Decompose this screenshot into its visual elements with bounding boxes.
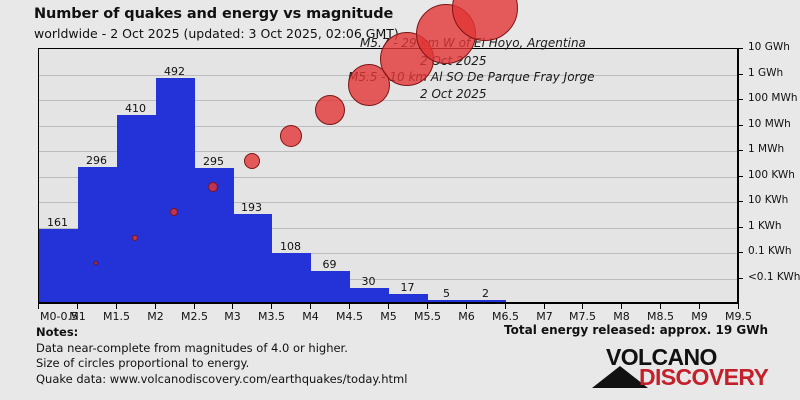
x-axis-tick xyxy=(582,304,583,309)
bar-M3[interactable] xyxy=(233,214,272,302)
bar-value-label: 161 xyxy=(38,216,77,229)
bar-value-label: 69 xyxy=(310,258,349,271)
y-axis-right-tick xyxy=(738,48,743,49)
notes-block: Notes: Data near-complete from magnitude… xyxy=(36,325,407,387)
annotation-fray-jorge-date: 2 Oct 2025 xyxy=(420,87,487,101)
bar-M1.5[interactable] xyxy=(117,115,156,302)
y-axis-title: Number of events xyxy=(0,38,3,128)
bar-M6[interactable] xyxy=(467,300,506,302)
x-axis-tick xyxy=(77,304,78,309)
bar-M5.5[interactable] xyxy=(428,300,467,302)
energy-bubble-M2.5[interactable] xyxy=(208,182,218,192)
x-axis-tick-label: M1 xyxy=(58,310,97,323)
x-axis-tick xyxy=(38,304,39,309)
bar-value-label: 193 xyxy=(232,201,271,214)
y-axis-right-tick-label: 100 KWh xyxy=(748,169,795,181)
bar-M4[interactable] xyxy=(311,271,350,302)
x-axis-tick xyxy=(194,304,195,309)
energy-bubble-M4[interactable] xyxy=(315,95,345,125)
x-axis-tick-label: M3 xyxy=(213,310,252,323)
y-axis-right-tick-label: 1 KWh xyxy=(748,220,782,232)
logo-word-discovery: DISCOVERY xyxy=(639,364,768,391)
energy-bubble-M3.5[interactable] xyxy=(280,125,302,147)
energy-bubble-M1.5[interactable] xyxy=(132,235,138,241)
x-axis-tick xyxy=(699,304,700,309)
total-energy-text: Total energy released: approx. 19 GWh xyxy=(504,323,768,337)
y-axis-right-tick xyxy=(738,99,743,100)
x-axis-tick xyxy=(621,304,622,309)
bar-value-label: 295 xyxy=(194,155,233,168)
y-axis-right-tick-label: 100 MWh xyxy=(748,92,797,104)
y-axis-right-tick-label: 0.1 KWh xyxy=(748,245,792,257)
note-line-1: Data near-complete from magnitudes of 4.… xyxy=(36,341,407,357)
x-axis-tick-label: M7.5 xyxy=(563,310,602,323)
bar-value-label: 410 xyxy=(116,102,155,115)
x-axis-tick-label: M2 xyxy=(136,310,175,323)
x-axis-tick-label: M4.5 xyxy=(330,310,369,323)
x-axis-tick-label: M5 xyxy=(369,310,408,323)
bar-value-label: 108 xyxy=(271,240,310,253)
x-axis-tick xyxy=(271,304,272,309)
energy-bubble-M3[interactable] xyxy=(244,153,260,169)
y-axis-right-tick xyxy=(738,201,743,202)
y-axis-right-tick-label: 1 MWh xyxy=(748,143,784,155)
x-axis-tick xyxy=(427,304,428,309)
bar-value-label: 30 xyxy=(349,275,388,288)
x-axis-tick xyxy=(466,304,467,309)
y-axis-right-tick-label: 10 KWh xyxy=(748,194,788,206)
gridline xyxy=(39,100,737,101)
notes-heading: Notes: xyxy=(36,325,407,341)
bar-M3.5[interactable] xyxy=(272,253,311,302)
x-axis-tick xyxy=(660,304,661,309)
x-axis-tick-label: M6.5 xyxy=(486,310,525,323)
y-axis-right-tick-label: 1 GWh xyxy=(748,67,783,79)
chart-subtitle: worldwide - 2 Oct 2025 (updated: 3 Oct 2… xyxy=(34,26,399,41)
bar-M00.5[interactable] xyxy=(39,229,78,302)
y-axis-right-tick xyxy=(738,125,743,126)
x-axis-tick-label: M2.5 xyxy=(175,310,214,323)
x-axis-tick-label: M7 xyxy=(525,310,564,323)
x-axis-tick-label: M8.5 xyxy=(641,310,680,323)
page-title: Number of quakes and energy vs magnitude xyxy=(34,6,393,22)
y-axis-right-tick xyxy=(738,227,743,228)
note-line-2: Size of circles proportional to energy. xyxy=(36,356,407,372)
note-line-3: Quake data: www.volcanodiscovery.com/ear… xyxy=(36,372,407,388)
quake-energy-chart: Number of quakes and energy vs magnitude… xyxy=(0,0,800,400)
x-axis-tick-label: M5.5 xyxy=(408,310,447,323)
x-axis-tick-label: M9.5 xyxy=(719,310,758,323)
x-axis-tick xyxy=(738,304,739,309)
y-axis-right-tick-label: 10 GWh xyxy=(748,41,790,53)
x-axis-tick xyxy=(349,304,350,309)
y-axis-right-tick xyxy=(738,278,743,279)
y-axis-right-tick-label: <0.1 KWh xyxy=(748,271,800,283)
y-axis-right-tick xyxy=(738,74,743,75)
y-axis-right-tick xyxy=(738,252,743,253)
x-axis-tick-label: M1.5 xyxy=(97,310,136,323)
volcano-discovery-logo[interactable]: VOLCANO DISCOVERY xyxy=(592,344,772,392)
x-axis-tick-label: M8 xyxy=(602,310,641,323)
x-axis-tick xyxy=(310,304,311,309)
x-axis-tick xyxy=(116,304,117,309)
y-axis-right-tick-label: 10 MWh xyxy=(748,118,791,130)
bar-M4.5[interactable] xyxy=(350,288,389,302)
x-axis-tick-label: M4 xyxy=(291,310,330,323)
x-axis-tick-label: M9 xyxy=(680,310,719,323)
energy-bubble-M2[interactable] xyxy=(170,208,178,216)
x-axis-tick xyxy=(232,304,233,309)
y-axis-right-tick xyxy=(738,150,743,151)
x-axis-tick xyxy=(155,304,156,309)
bar-M5[interactable] xyxy=(389,294,428,302)
x-axis-tick xyxy=(544,304,545,309)
bar-value-label: 17 xyxy=(388,281,427,294)
x-axis-tick-label: M6 xyxy=(447,310,486,323)
bar-M1[interactable] xyxy=(78,167,117,302)
x-axis-tick-label: M3.5 xyxy=(252,310,291,323)
y-axis-right-tick xyxy=(738,176,743,177)
bar-value-label: 5 xyxy=(427,287,466,300)
x-axis-tick xyxy=(388,304,389,309)
bar-value-label: 492 xyxy=(155,65,194,78)
x-axis-tick xyxy=(505,304,506,309)
bar-value-label: 296 xyxy=(77,154,116,167)
energy-bubble-M1[interactable] xyxy=(94,261,98,265)
bar-value-label: 2 xyxy=(466,287,505,300)
bar-M2[interactable] xyxy=(156,78,195,302)
